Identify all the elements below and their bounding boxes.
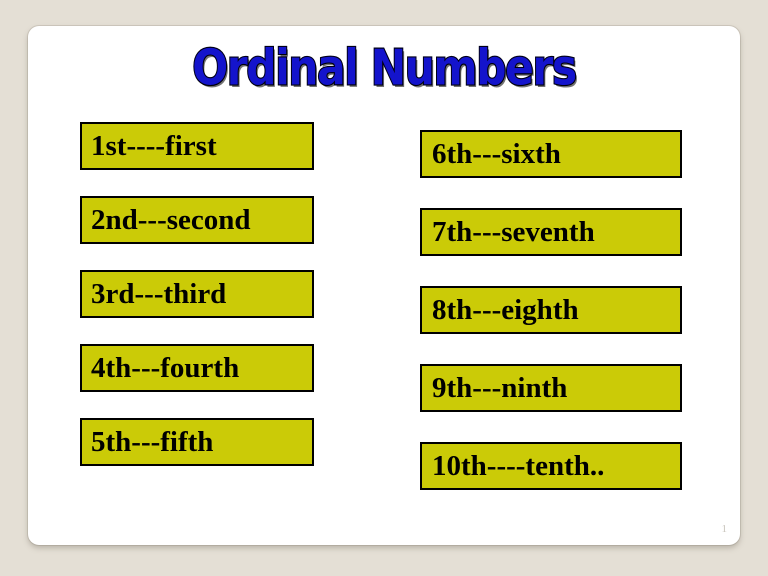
ordinal-list-right: 6th---sixth 7th---seventh 8th---eighth 9… [420, 130, 682, 490]
ordinal-item-8th[interactable]: 8th---eighth [420, 286, 682, 334]
ordinal-label: 7th---seventh [432, 216, 595, 249]
ordinal-label: 1st----first [91, 130, 217, 163]
ordinal-list-left: 1st----first 2nd---second 3rd---third 4t… [80, 122, 314, 466]
ordinal-label: 2nd---second [91, 204, 251, 237]
ordinal-label: 4th---fourth [91, 352, 239, 385]
ordinal-item-7th[interactable]: 7th---seventh [420, 208, 682, 256]
ordinal-item-6th[interactable]: 6th---sixth [420, 130, 682, 178]
page-number: 1 [722, 523, 728, 535]
ordinal-label: 9th---ninth [432, 372, 567, 405]
ordinal-item-1st[interactable]: 1st----first [80, 122, 314, 170]
ordinal-item-9th[interactable]: 9th---ninth [420, 364, 682, 412]
slide-stage: Ordinal Numbers 1st----first 2nd---secon… [0, 0, 768, 576]
ordinal-item-5th[interactable]: 5th---fifth [80, 418, 314, 466]
ordinal-item-2nd[interactable]: 2nd---second [80, 196, 314, 244]
page-title: Ordinal Numbers [56, 38, 711, 97]
ordinal-item-4th[interactable]: 4th---fourth [80, 344, 314, 392]
ordinal-label: 3rd---third [91, 278, 226, 311]
ordinal-item-3rd[interactable]: 3rd---third [80, 270, 314, 318]
ordinal-item-10th[interactable]: 10th----tenth.. [420, 442, 682, 490]
ordinal-label: 8th---eighth [432, 294, 579, 327]
ordinal-label: 6th---sixth [432, 138, 561, 171]
ordinal-label: 5th---fifth [91, 426, 213, 459]
slide-card: Ordinal Numbers 1st----first 2nd---secon… [28, 26, 740, 545]
ordinal-label: 10th----tenth.. [432, 450, 604, 483]
